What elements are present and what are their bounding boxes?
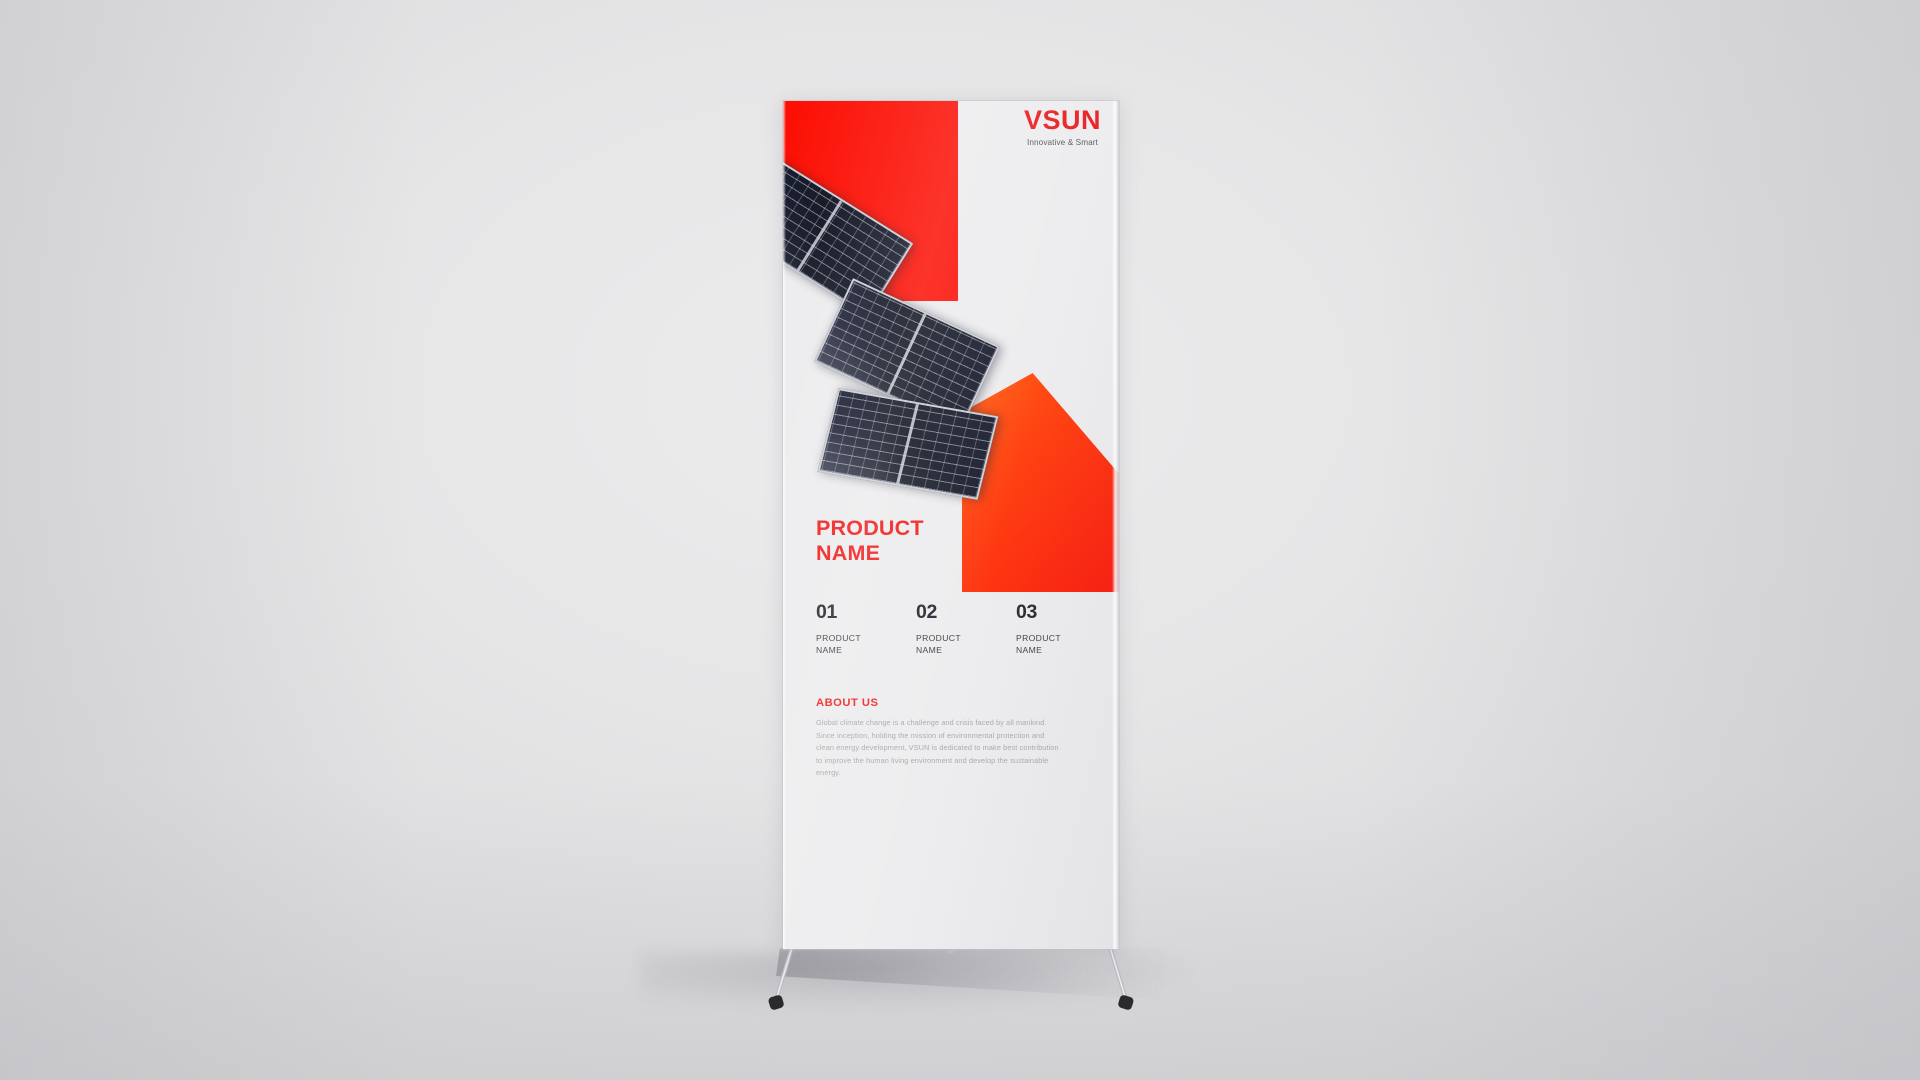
orange-gradient-block (962, 373, 1119, 592)
feature-label: PRODUCT NAME (1016, 632, 1084, 656)
wall-shading-left (0, 0, 420, 1080)
roll-up-banner: VSUN Innovative & Smart PRODUCT NAME 01 … (783, 101, 1119, 949)
feature-label: PRODUCT NAME (816, 632, 884, 656)
feature-item-01: 01 PRODUCT NAME (816, 603, 884, 656)
product-title: PRODUCT NAME (816, 516, 924, 566)
wall-shading-right (1360, 0, 1920, 1080)
feature-label: PRODUCT NAME (916, 632, 984, 656)
logo-wordmark: VSUN (1024, 107, 1101, 134)
feature-number: 03 (1016, 603, 1084, 623)
about-us-body: Global climate change is a challenge and… (816, 717, 1064, 780)
about-us-heading: ABOUT US (816, 697, 878, 709)
feature-list: 01 PRODUCT NAME 02 PRODUCT NAME 03 PRODU… (816, 603, 1086, 656)
feature-number: 02 (916, 603, 984, 623)
logo-tagline: Innovative & Smart (1024, 138, 1101, 147)
feature-item-02: 02 PRODUCT NAME (916, 603, 984, 656)
feature-number: 01 (816, 603, 884, 623)
feature-item-03: 03 PRODUCT NAME (1016, 603, 1084, 656)
brand-logo: VSUN Innovative & Smart (1024, 107, 1101, 147)
